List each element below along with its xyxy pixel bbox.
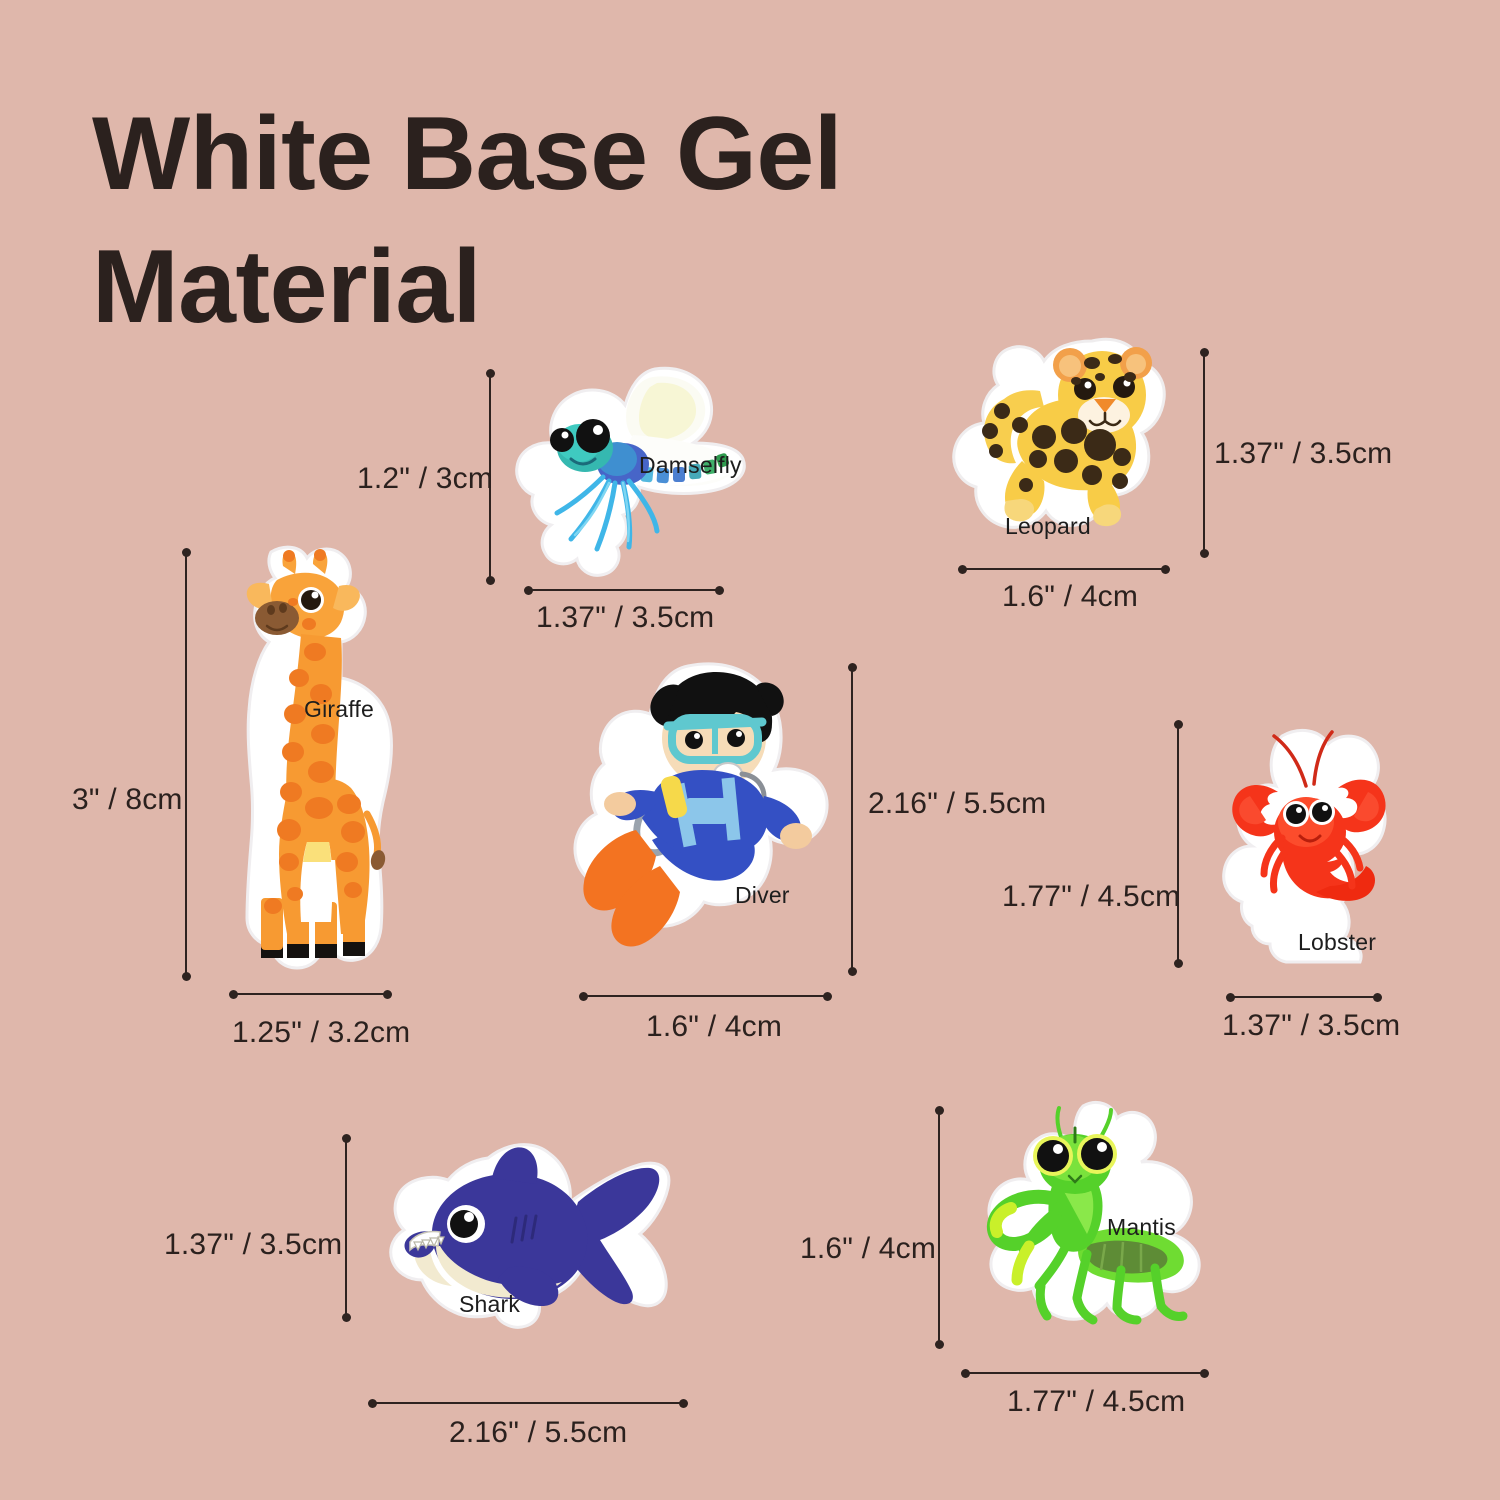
diver-height-label: 2.16" / 5.5cm <box>868 787 1046 821</box>
lobster-height-line <box>1177 724 1179 964</box>
lobster-height-label: 1.77" / 4.5cm <box>1002 880 1180 914</box>
damselfly-width-label: 1.37" / 3.5cm <box>536 601 714 635</box>
damselfly-height-label: 1.2" / 3cm <box>357 462 493 496</box>
sticker-diver[interactable]: Diver <box>568 660 848 960</box>
lobster-width-line <box>1230 996 1378 998</box>
mantis-height-label: 1.6" / 4cm <box>800 1232 936 1266</box>
diver-width-label: 1.6" / 4cm <box>646 1010 782 1044</box>
mantis-width-label: 1.77" / 4.5cm <box>1007 1385 1185 1419</box>
giraffe-width-label: 1.25" / 3.2cm <box>232 1016 410 1050</box>
damselfly-width-line <box>528 589 720 591</box>
giraffe-height-label: 3" / 8cm <box>72 783 183 817</box>
mantis-height-line <box>938 1110 940 1345</box>
sticker-leopard[interactable]: Leopard <box>940 333 1172 565</box>
leopard-width-line <box>962 568 1166 570</box>
sticker-shark[interactable]: Shark <box>370 1138 676 1338</box>
leopard-height-line <box>1203 352 1205 554</box>
diver-height-line <box>851 667 853 972</box>
leopard-width-label: 1.6" / 4cm <box>1002 580 1138 614</box>
sticker-mantis[interactable]: Mantis <box>955 1098 1217 1342</box>
infographic-canvas: White Base Gel Material 1.2" / 3cm 1.37"… <box>0 0 1500 1500</box>
sticker-giraffe[interactable]: Giraffe <box>203 542 411 982</box>
sticker-damselfly[interactable]: Damselfly <box>505 363 747 581</box>
page-title: White Base Gel Material <box>92 88 1172 354</box>
lobster-width-label: 1.37" / 3.5cm <box>1222 1009 1400 1043</box>
giraffe-height-line <box>185 552 187 977</box>
giraffe-width-line <box>233 993 388 995</box>
shark-height-label: 1.37" / 3.5cm <box>164 1228 342 1262</box>
leopard-height-label: 1.37" / 3.5cm <box>1214 437 1392 471</box>
shark-height-line <box>345 1138 347 1318</box>
mantis-width-line <box>965 1372 1205 1374</box>
shark-width-label: 2.16" / 5.5cm <box>449 1416 627 1450</box>
diver-width-line <box>583 995 828 997</box>
shark-width-line <box>372 1402 684 1404</box>
sticker-lobster[interactable]: Lobster <box>1220 722 1402 970</box>
